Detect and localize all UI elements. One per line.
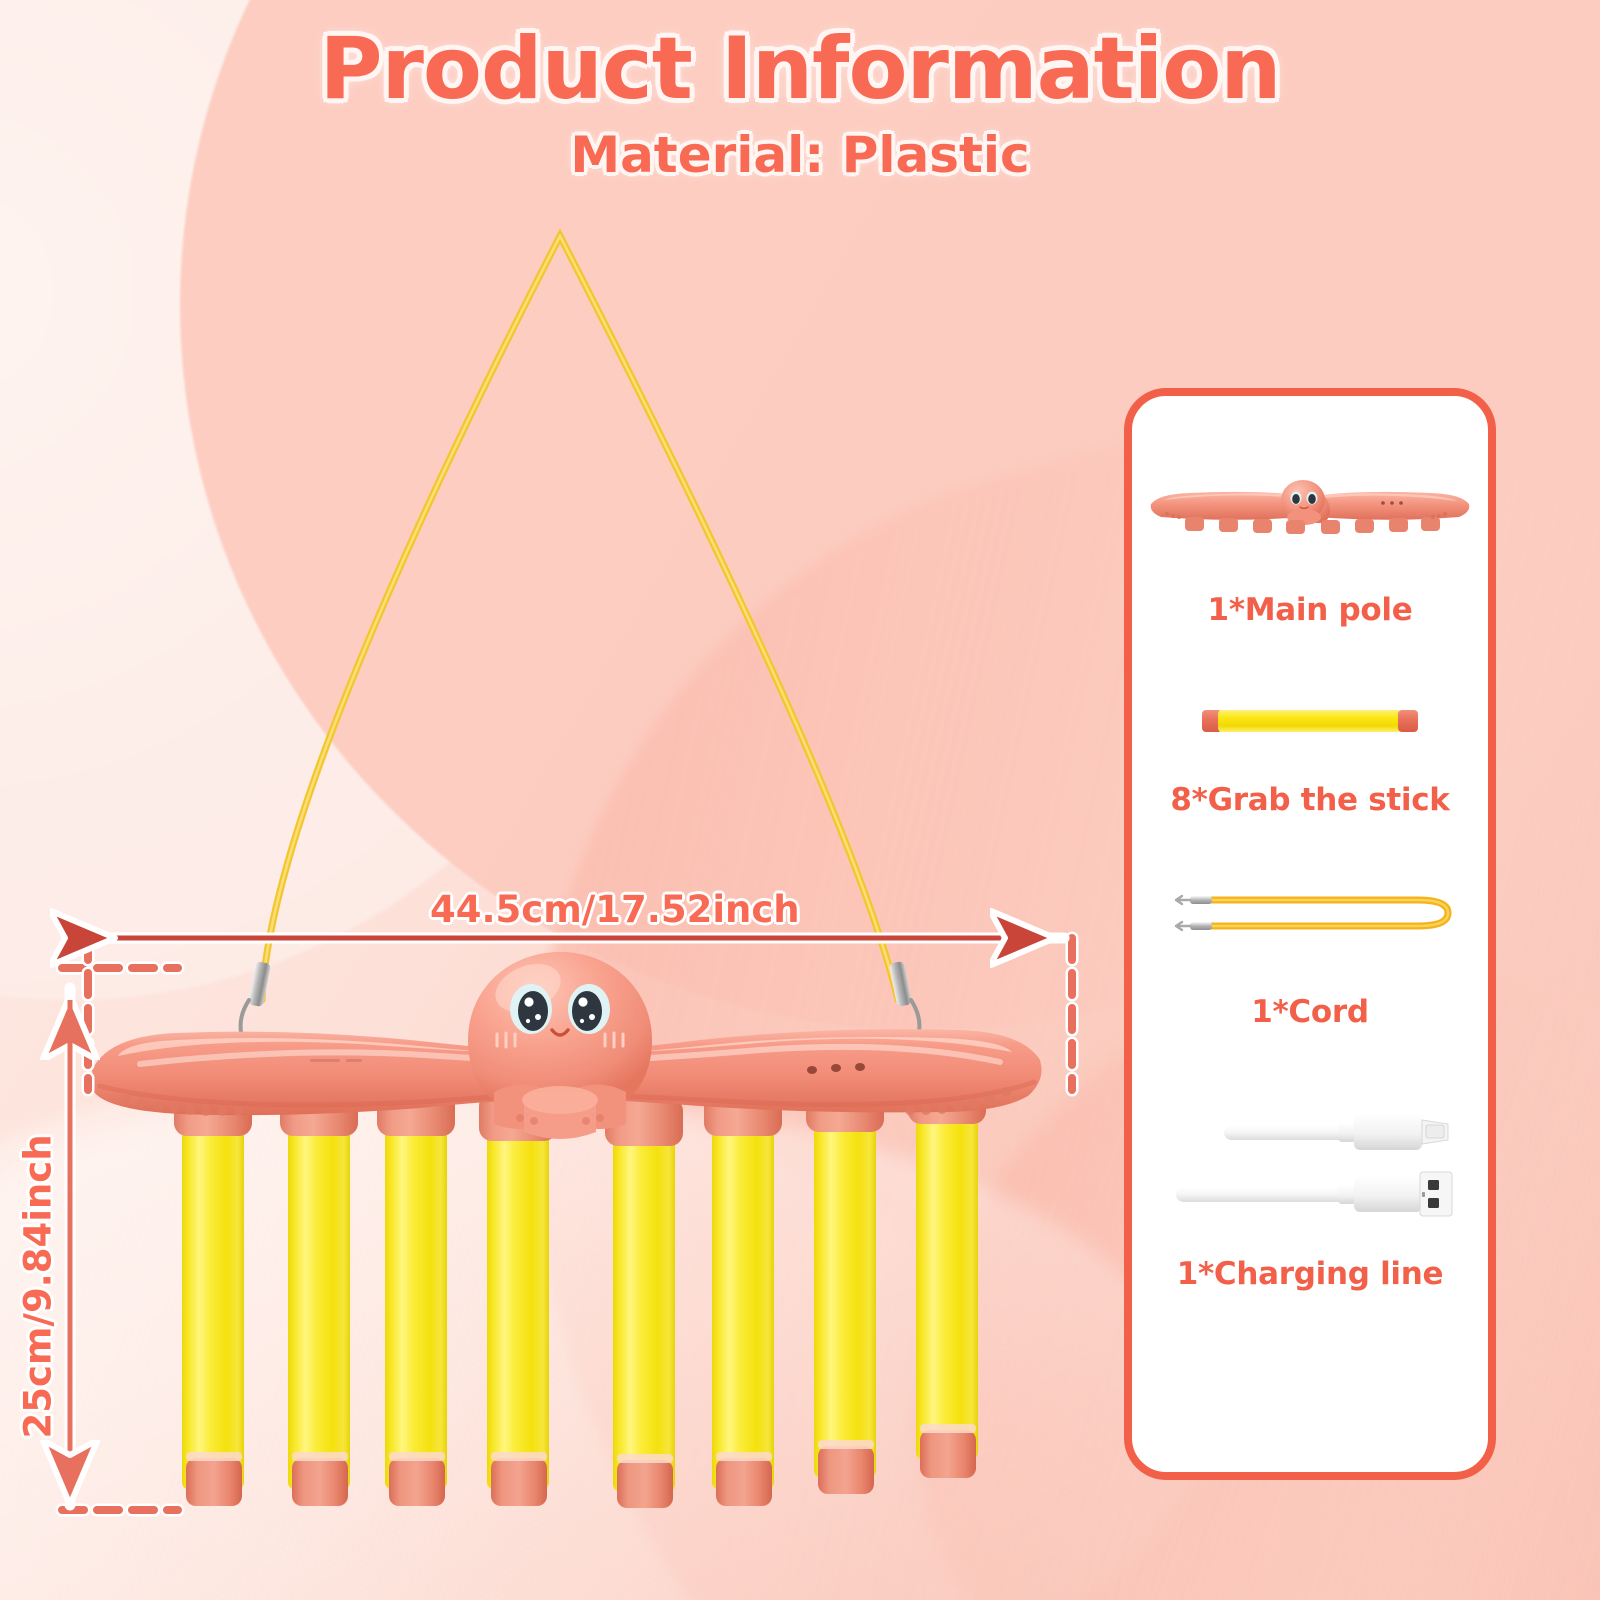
grab-sticks: [174, 1076, 986, 1508]
page-title: Product Information: [0, 26, 1600, 114]
stick: [605, 1098, 683, 1508]
stick: [174, 1088, 252, 1506]
stick: [280, 1088, 358, 1506]
printed-marking: [310, 1059, 362, 1062]
stick: [479, 1093, 557, 1506]
product-illustration: [0, 0, 1124, 1600]
parts-list-panel: 1*Main pole 8*Grab the stick 1*Cord: [1124, 388, 1496, 1480]
eye-left: [510, 984, 552, 1034]
part-label-charging-line: 1*Charging line: [1177, 1256, 1444, 1292]
grab-stick-graphic: [1202, 710, 1418, 732]
part-art-main-pole: [1132, 470, 1488, 542]
header: Product Information Material: Plastic: [0, 26, 1600, 184]
stick-tube: [1218, 710, 1402, 732]
eye-right: [568, 984, 610, 1034]
stick: [806, 1084, 884, 1494]
part-label-grab-stick: 8*Grab the stick: [1170, 782, 1449, 818]
usb-a-connector: [1176, 1172, 1452, 1216]
micro-usb-connector: [1224, 1114, 1448, 1150]
stick: [908, 1076, 986, 1478]
part-label-main-pole: 1*Main pole: [1208, 592, 1413, 628]
part-art-cord: [1132, 878, 1488, 948]
octopus-head: [468, 952, 652, 1139]
stick-cap-right: [1398, 710, 1418, 732]
part-art-grab-stick: [1132, 710, 1488, 732]
hanging-cord: [262, 236, 898, 1000]
part-label-cord: 1*Cord: [1251, 994, 1369, 1030]
part-art-charging-line: [1132, 1102, 1488, 1232]
stick: [377, 1088, 455, 1506]
material-subtitle: Material: Plastic: [0, 126, 1600, 184]
stick: [704, 1088, 782, 1506]
